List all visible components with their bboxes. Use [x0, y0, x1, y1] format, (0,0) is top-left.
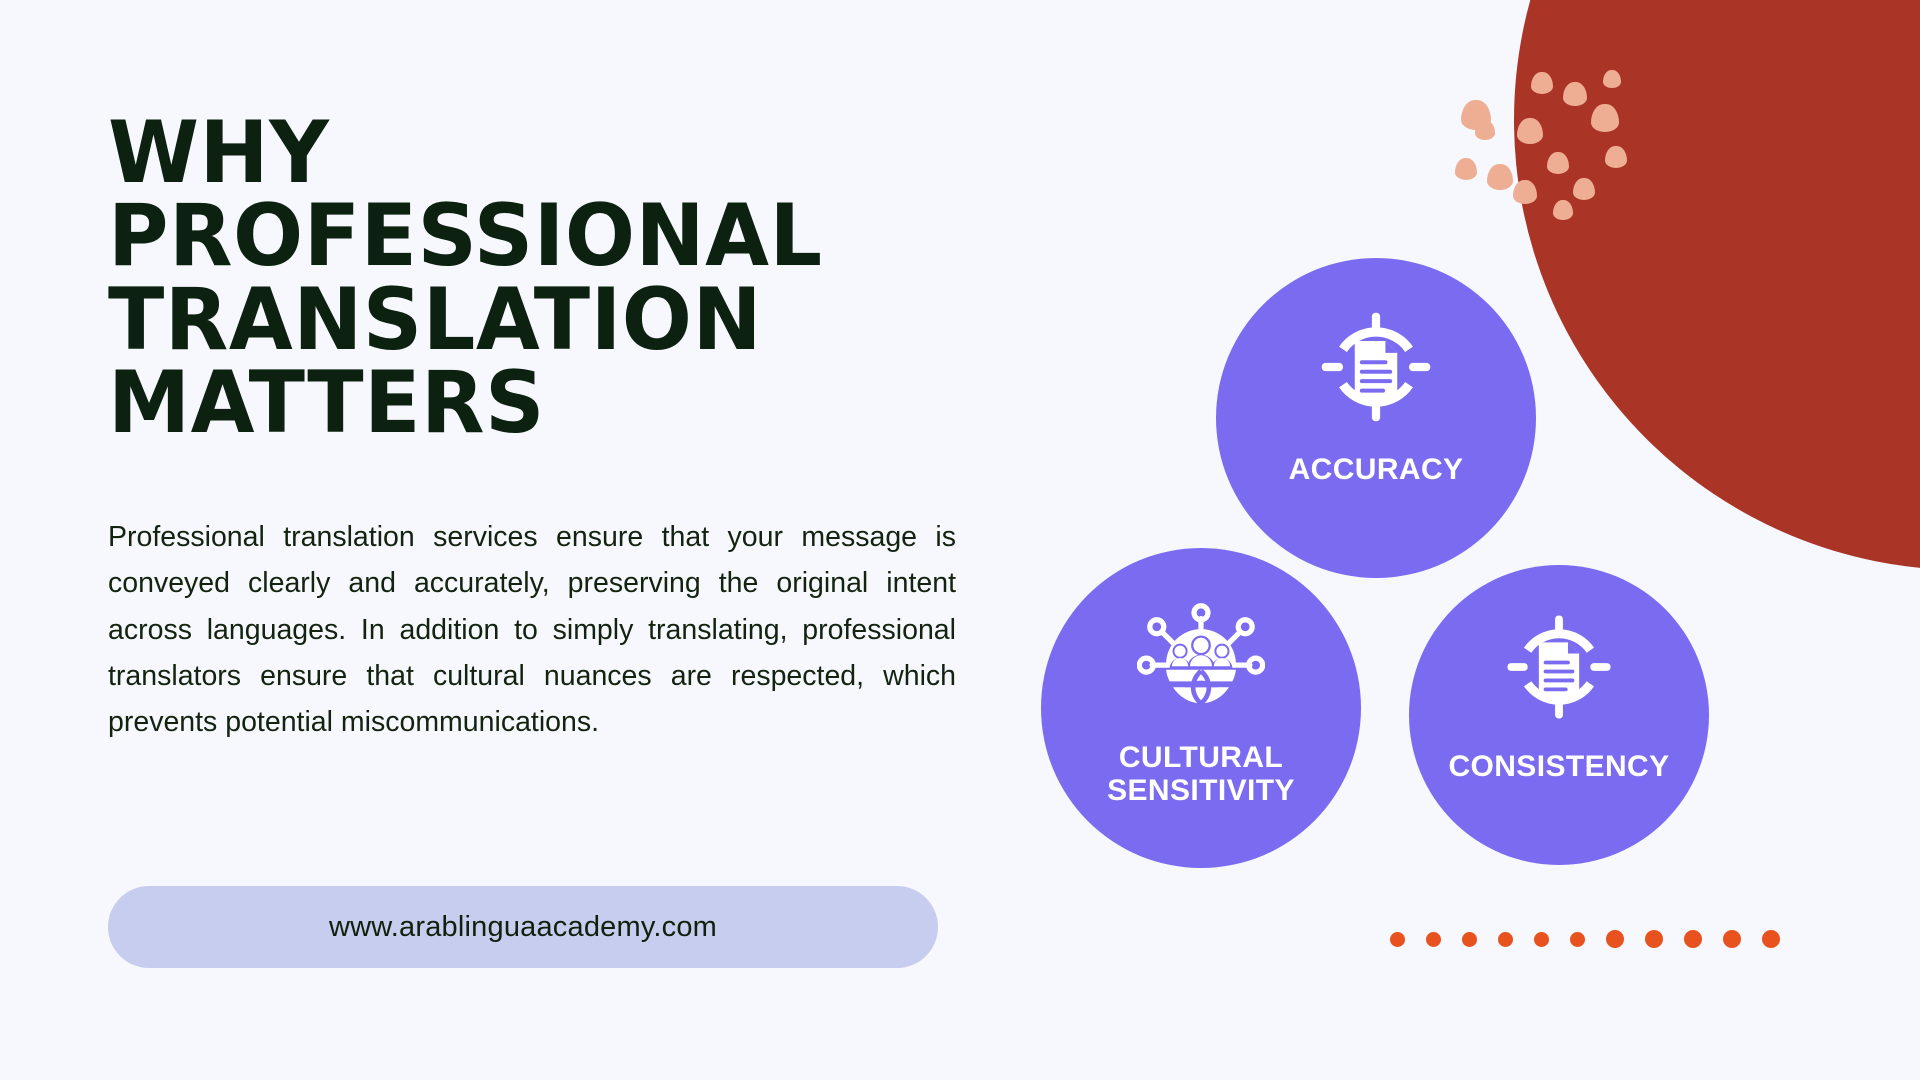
drop-cluster-decoration [1455, 60, 1655, 240]
decorative-drop [1513, 180, 1537, 204]
decorative-drop [1573, 178, 1595, 200]
decorative-drop [1531, 72, 1553, 94]
decorative-dot [1498, 932, 1513, 947]
decorative-dot [1606, 930, 1624, 948]
decorative-dot [1684, 930, 1702, 948]
decorative-drop [1487, 164, 1513, 190]
decorative-drop [1547, 152, 1569, 174]
decorative-drop [1553, 200, 1573, 220]
page-title: WHY PROFESSIONAL TRANSLATION MATTERS [108, 112, 943, 446]
decorative-drop [1475, 120, 1495, 140]
website-url-pill[interactable]: www.arablinguaacademy.com [108, 886, 938, 968]
decorative-dot [1534, 932, 1549, 947]
website-url-text: www.arablinguaacademy.com [329, 911, 717, 944]
feature-circle-accuracy[interactable]: ACCURACY [1216, 258, 1536, 578]
decorative-drop [1603, 70, 1621, 88]
feature-circle-consistency[interactable]: CONSISTENCY [1409, 565, 1709, 865]
decorative-dot [1570, 932, 1585, 947]
decorative-drop [1591, 104, 1619, 132]
globe-people-network-icon [1137, 598, 1265, 721]
body-paragraph: Professional translation services ensure… [108, 514, 956, 746]
orange-dot-row-decoration [1390, 930, 1780, 948]
feature-label-cultural-sensitivity: CULTURAL SENSITIVITY [1107, 741, 1295, 807]
text-column: WHY PROFESSIONAL TRANSLATION MATTERS Pro… [108, 112, 978, 746]
decorative-dot [1723, 930, 1741, 948]
document-target-icon [1317, 308, 1435, 431]
decorative-drop [1455, 158, 1477, 180]
decorative-drop [1517, 118, 1543, 144]
feature-circle-cultural-sensitivity[interactable]: CULTURAL SENSITIVITY [1041, 548, 1361, 868]
feature-label-accuracy: ACCURACY [1289, 453, 1464, 486]
decorative-drop [1563, 82, 1587, 106]
decorative-dot [1762, 930, 1780, 948]
document-target-icon [1503, 611, 1615, 728]
decorative-dot [1462, 932, 1477, 947]
decorative-drop [1605, 146, 1627, 168]
decorative-dot [1390, 932, 1405, 947]
feature-label-consistency: CONSISTENCY [1448, 750, 1669, 783]
poster-canvas: WHY PROFESSIONAL TRANSLATION MATTERS Pro… [0, 0, 1920, 1080]
decorative-dot [1645, 930, 1663, 948]
decorative-dot [1426, 932, 1441, 947]
